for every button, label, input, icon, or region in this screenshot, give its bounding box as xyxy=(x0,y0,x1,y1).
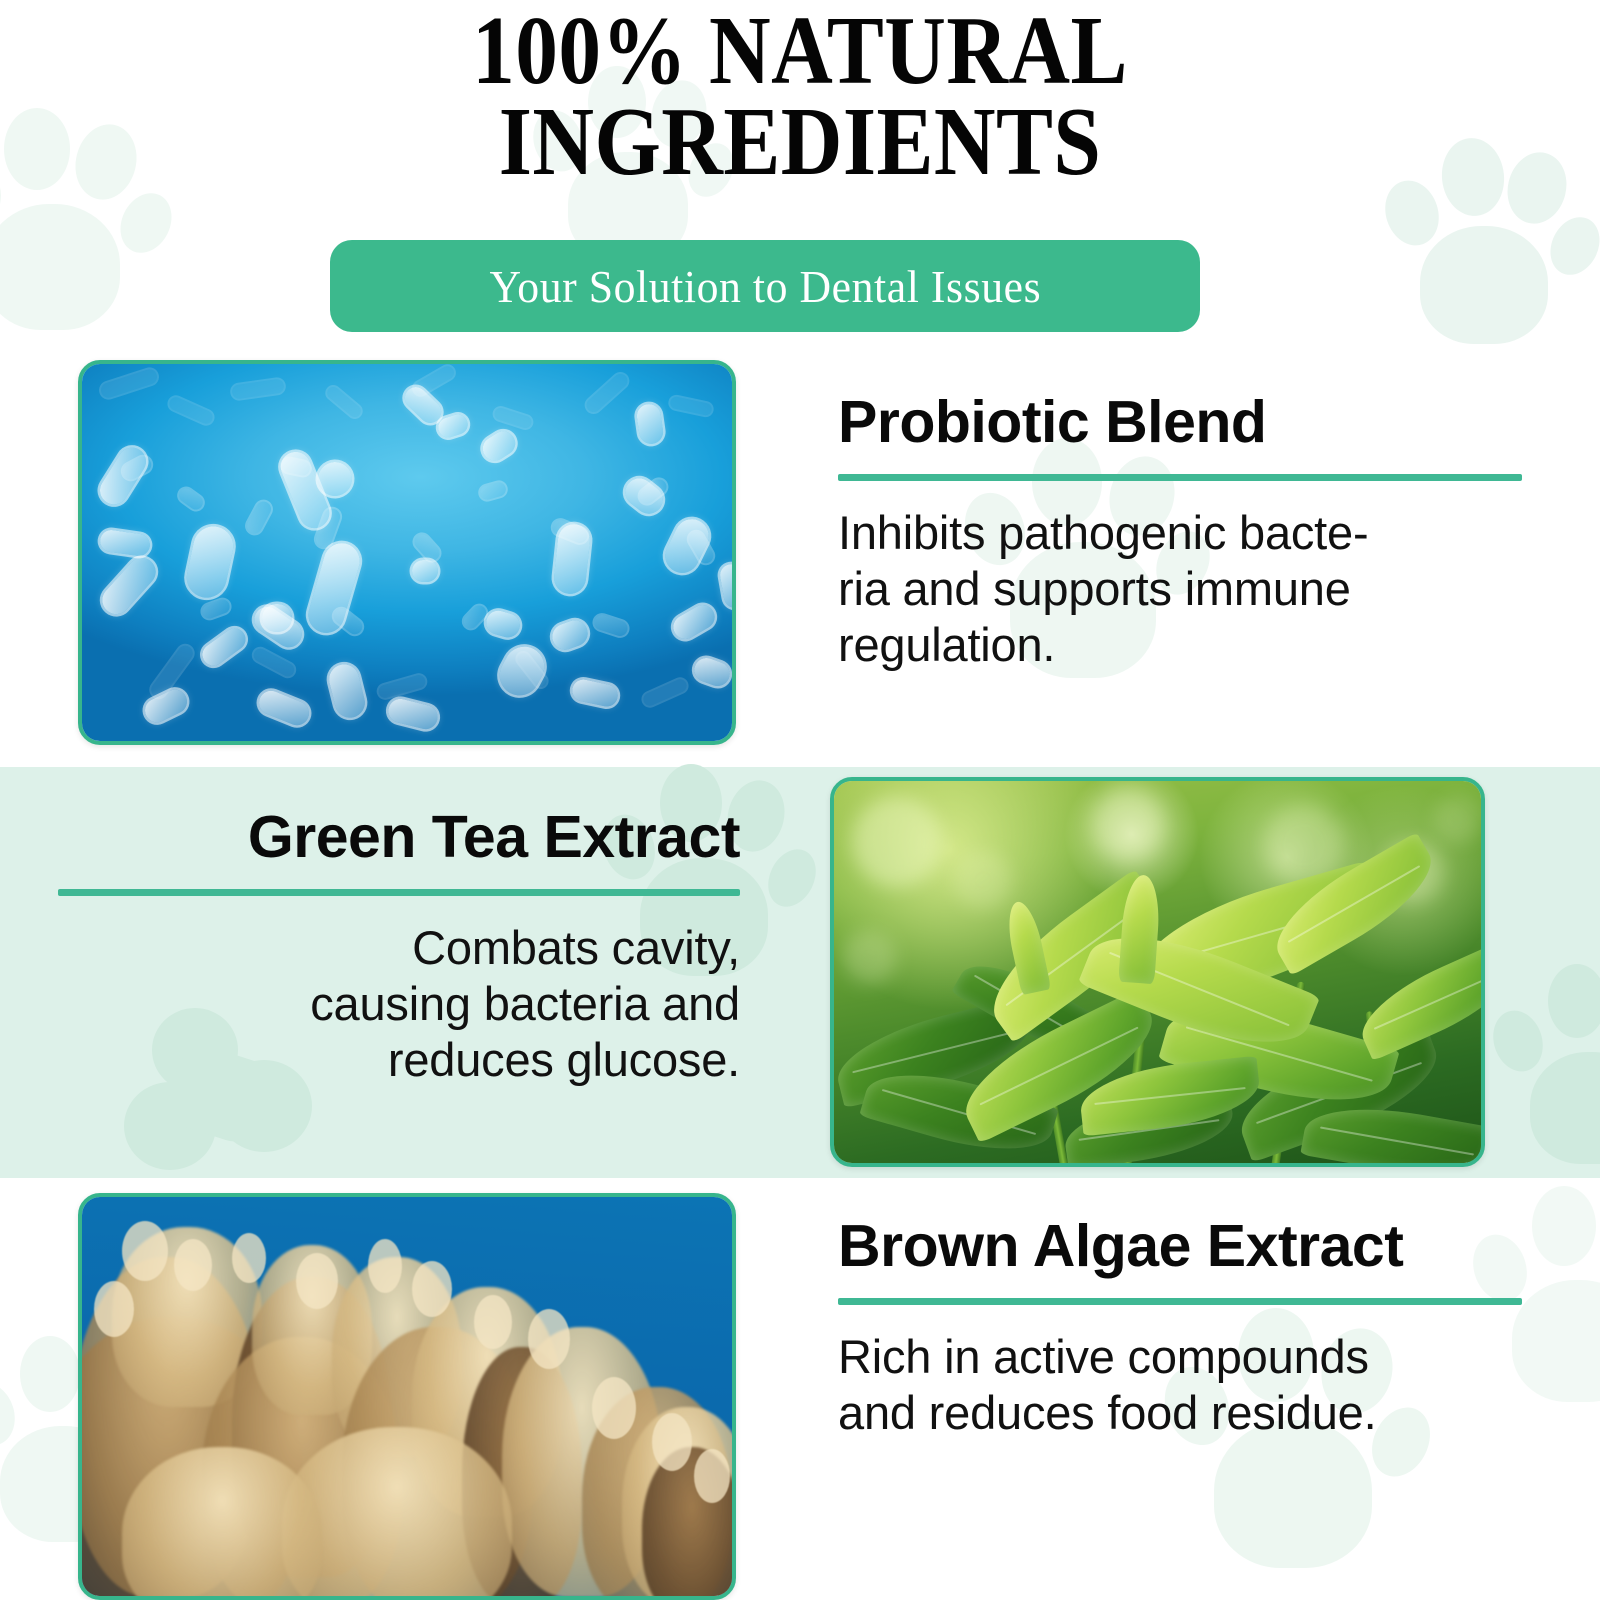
ingredient-row-brown-algae: Brown Algae Extract Rich in active compo… xyxy=(0,1178,1600,1600)
probiotic-copy-block: Probiotic Blend Inhibits pathogenic bact… xyxy=(838,392,1522,673)
brown-algae-underwater-photo xyxy=(78,1193,736,1600)
probiotic-title: Probiotic Blend xyxy=(838,392,1522,452)
green-tea-leaves-photo xyxy=(830,777,1485,1167)
green-tea-description-line: reduces glucose. xyxy=(58,1032,740,1088)
green-tea-title: Green Tea Extract xyxy=(58,807,740,867)
green-tea-copy-block: Green Tea Extract Combats cavity, causin… xyxy=(58,807,740,1088)
brown-algae-title: Brown Algae Extract xyxy=(838,1216,1522,1276)
page-title-line-1: 100% NATURAL xyxy=(96,6,1504,95)
probiotic-divider xyxy=(838,474,1522,481)
probiotic-description: Inhibits pathogenic bacte- ria and suppo… xyxy=(838,505,1522,673)
brown-algae-copy-block: Brown Algae Extract Rich in active compo… xyxy=(838,1216,1522,1441)
probiotic-bacteria-photo xyxy=(78,360,736,745)
probiotic-description-line: regulation. xyxy=(838,617,1522,673)
algae-illustration xyxy=(82,1197,732,1596)
brown-algae-description: Rich in active compounds and reduces foo… xyxy=(838,1329,1522,1441)
green-tea-description-line: Combats cavity, xyxy=(58,920,740,976)
ingredient-row-green-tea: Green Tea Extract Combats cavity, causin… xyxy=(0,767,1600,1178)
green-tea-description: Combats cavity, causing bacteria and red… xyxy=(58,920,740,1088)
brown-algae-description-line: Rich in active compounds xyxy=(838,1329,1522,1385)
green-tea-divider xyxy=(58,889,740,896)
probiotic-description-line: ria and supports immune xyxy=(838,561,1522,617)
green-tea-description-line: causing bacteria and xyxy=(58,976,740,1032)
tea-leaves-illustration xyxy=(834,781,1481,1163)
brown-algae-divider xyxy=(838,1298,1522,1305)
subtitle-banner-text: Your Solution to Dental Issues xyxy=(489,260,1041,313)
infographic-page: 100% NATURAL INGREDIENTS Your Solution t… xyxy=(0,0,1600,1600)
header: 100% NATURAL INGREDIENTS xyxy=(0,0,1600,186)
brown-algae-description-line: and reduces food residue. xyxy=(838,1385,1522,1441)
page-title-line-2: INGREDIENTS xyxy=(96,97,1504,186)
bacteria-illustration xyxy=(82,364,732,741)
probiotic-description-line: Inhibits pathogenic bacte- xyxy=(838,505,1522,561)
subtitle-banner: Your Solution to Dental Issues xyxy=(330,240,1200,332)
